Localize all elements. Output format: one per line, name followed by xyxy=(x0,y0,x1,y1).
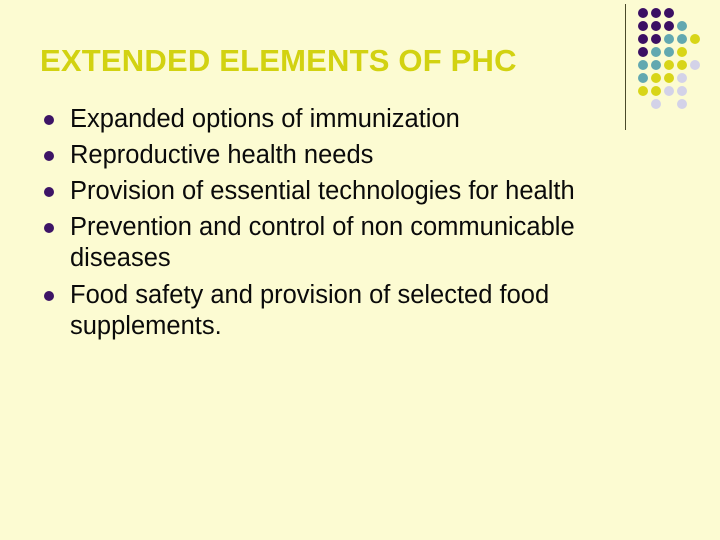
dot-icon xyxy=(677,86,687,96)
bullet-point-icon xyxy=(44,223,54,233)
list-item-label: Reproductive health needs xyxy=(70,140,658,171)
dot-icon xyxy=(690,34,700,44)
dot-icon xyxy=(651,34,661,44)
dot-icon xyxy=(651,21,661,31)
dot-grid-ornament xyxy=(638,8,716,112)
list-item: Provision of essential technologies for … xyxy=(38,176,658,207)
dot-icon xyxy=(664,60,674,70)
bullet-point-icon xyxy=(44,151,54,161)
dot-icon xyxy=(664,8,674,18)
list-item: Reproductive health needs xyxy=(38,140,658,171)
dot-icon xyxy=(638,60,648,70)
dot-icon xyxy=(638,21,648,31)
dot-icon xyxy=(677,34,687,44)
dot-icon xyxy=(677,47,687,57)
dot-icon xyxy=(638,86,648,96)
dot-icon xyxy=(638,34,648,44)
list-item: Prevention and control of non communicab… xyxy=(38,212,658,274)
dot-icon xyxy=(638,73,648,83)
bullet-point-icon xyxy=(44,291,54,301)
dot-icon xyxy=(664,47,674,57)
list-item: Food safety and provision of selected fo… xyxy=(38,280,658,342)
list-item-label: Provision of essential technologies for … xyxy=(70,176,658,207)
dot-icon xyxy=(664,86,674,96)
list-item-label: Prevention and control of non communicab… xyxy=(70,212,658,274)
dot-icon xyxy=(651,47,661,57)
dot-icon xyxy=(638,47,648,57)
bullet-point-icon xyxy=(44,187,54,197)
dot-icon xyxy=(677,60,687,70)
dot-icon xyxy=(690,60,700,70)
presentation-slide: EXTENDED ELEMENTS OF PHC Expanded option… xyxy=(0,0,720,540)
dot-icon xyxy=(651,60,661,70)
dot-icon xyxy=(677,73,687,83)
dot-icon xyxy=(664,73,674,83)
list-item: Expanded options of immunization xyxy=(38,104,658,135)
list-item-label: Expanded options of immunization xyxy=(70,104,658,135)
dot-icon xyxy=(651,8,661,18)
dot-icon xyxy=(651,86,661,96)
slide-bullet-list: Expanded options of immunization Reprodu… xyxy=(38,104,658,347)
dot-icon xyxy=(638,8,648,18)
slide-title: EXTENDED ELEMENTS OF PHC xyxy=(40,43,610,79)
dot-icon xyxy=(677,21,687,31)
dot-icon xyxy=(677,99,687,109)
dot-icon xyxy=(651,73,661,83)
list-item-label: Food safety and provision of selected fo… xyxy=(70,280,658,342)
bullet-point-icon xyxy=(44,115,54,125)
dot-icon xyxy=(664,34,674,44)
dot-icon xyxy=(664,21,674,31)
